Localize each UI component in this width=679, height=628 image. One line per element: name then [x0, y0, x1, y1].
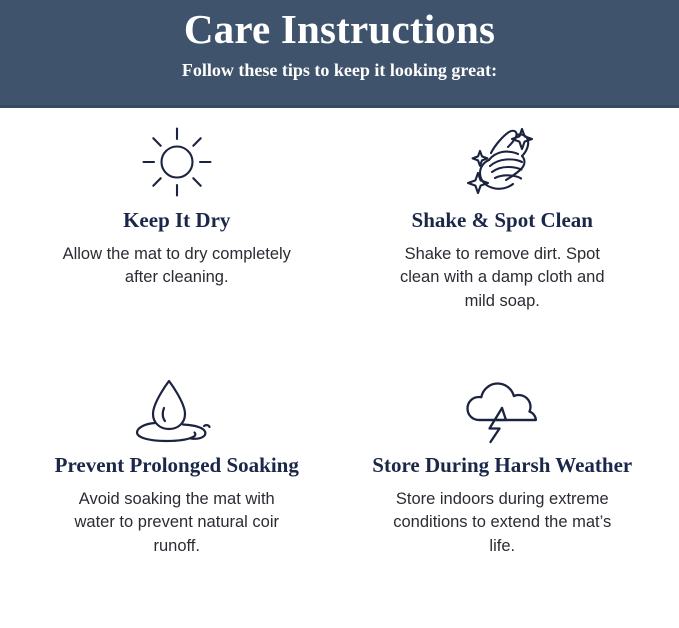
care-tip-body: Store indoors during extreme conditions … — [387, 488, 617, 559]
page-subtitle: Follow these tips to keep it looking gre… — [182, 53, 497, 82]
page-header: Care Instructions Follow these tips to k… — [0, 0, 679, 108]
care-tip-card-store-harsh-weather: Store During Harsh Weather Store indoors… — [340, 375, 666, 628]
care-tip-title: Shake & Spot Clean — [412, 208, 593, 234]
page-title: Care Instructions — [184, 6, 495, 53]
care-tip-body: Allow the mat to dry completely after cl… — [62, 243, 292, 291]
storm-cloud-lightning-icon — [465, 375, 539, 447]
care-tip-card-prevent-soaking: Prevent Prolonged Soaking Avoid soaking … — [14, 375, 340, 628]
care-tip-title: Prevent Prolonged Soaking — [55, 453, 299, 479]
care-tip-card-shake-spot-clean: Shake & Spot Clean Shake to remove dirt.… — [340, 122, 666, 375]
water-droplet-puddle-icon — [133, 375, 221, 447]
care-tip-body: Avoid soaking the mat with water to prev… — [62, 488, 292, 559]
care-tip-title: Store During Harsh Weather — [372, 453, 632, 479]
care-tip-body: Shake to remove dirt. Spot clean with a … — [387, 243, 617, 314]
sun-icon — [141, 122, 213, 202]
care-tip-card-keep-it-dry: Keep It Dry Allow the mat to dry complet… — [14, 122, 340, 375]
care-tip-title: Keep It Dry — [123, 208, 230, 234]
washing-hands-sparkle-icon — [459, 122, 545, 202]
care-instructions-page: Care Instructions Follow these tips to k… — [0, 0, 679, 628]
care-tips-grid: Keep It Dry Allow the mat to dry complet… — [0, 108, 679, 628]
